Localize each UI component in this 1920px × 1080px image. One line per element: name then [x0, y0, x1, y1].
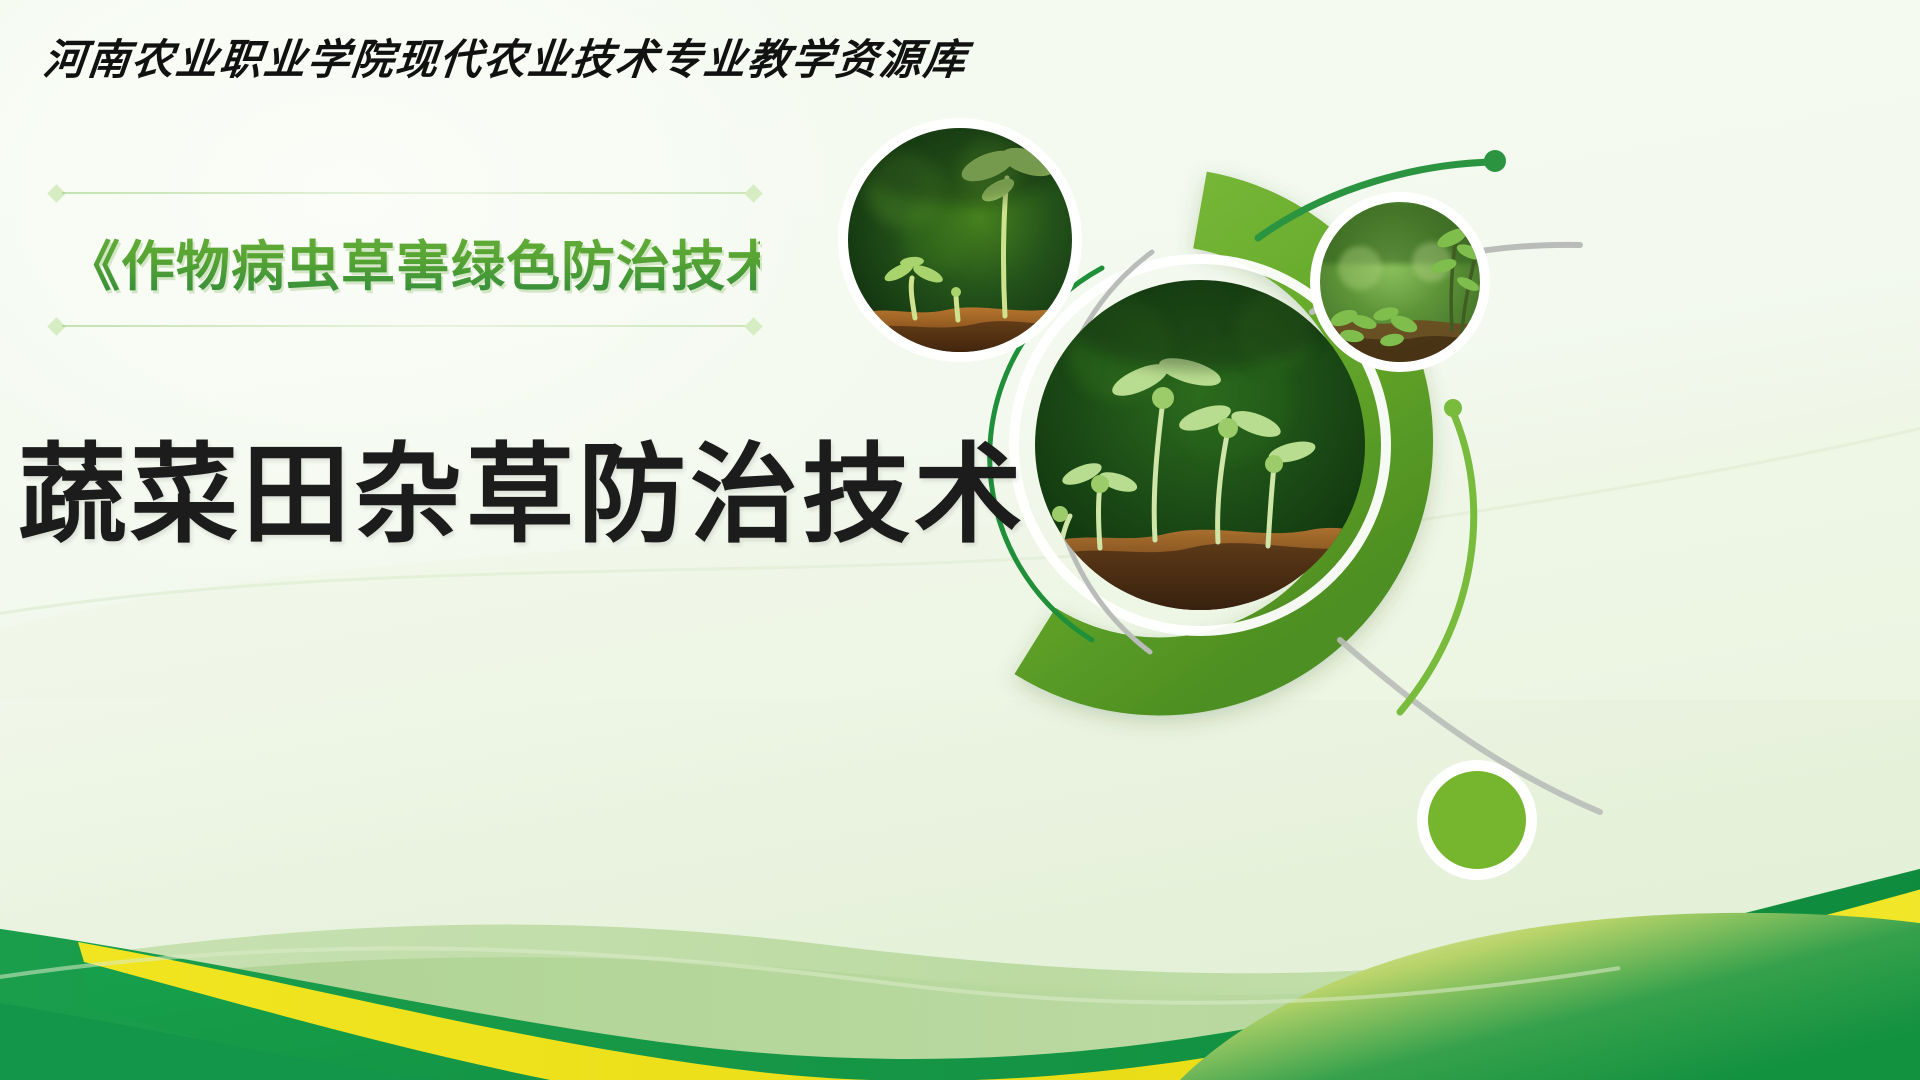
thin-rule: [62, 325, 748, 327]
bottom-waves: [0, 864, 1920, 1080]
course-title-block: 《作物病虫草害绿色防治技术》: [50, 186, 760, 333]
course-title: 《作物病虫草害绿色防治技术》: [66, 222, 760, 301]
thin-rule: [62, 192, 748, 194]
page-title: 蔬菜田杂草防治技术: [18, 408, 1026, 564]
brand-title: 河南农业职业学院现代农业技术专业教学资源库: [41, 26, 971, 87]
diamond-marker-right: [744, 317, 762, 335]
photo-top-left-sprout: [838, 96, 1082, 370]
decorative-rule-bottom: [50, 319, 760, 333]
photo-top-right-weeds: [1310, 192, 1490, 372]
diamond-marker-right: [744, 184, 762, 202]
green-solid-circle: [1417, 760, 1537, 880]
decorative-rule-top: [50, 186, 760, 200]
slide-canvas: 河南农业职业学院现代农业技术专业教学资源库 《作物病虫草害绿色防治技术》 蔬菜田…: [0, 0, 1920, 1080]
light-green-dot: [1444, 399, 1462, 417]
green-dot: [1484, 150, 1506, 172]
